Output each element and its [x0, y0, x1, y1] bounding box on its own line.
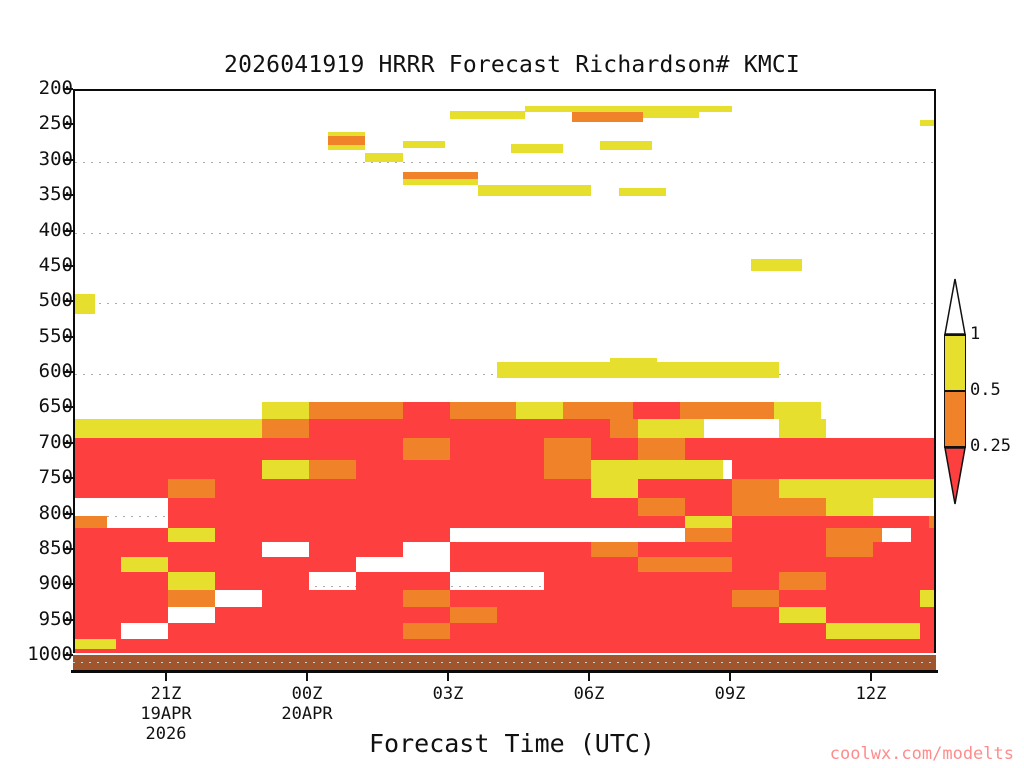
heatmap-cell	[774, 402, 821, 418]
gridline	[75, 233, 934, 234]
y-tick-label: 650	[11, 397, 73, 416]
heatmap-cell	[732, 557, 873, 573]
heatmap-cell	[779, 479, 920, 498]
heatmap-cell	[75, 557, 121, 573]
heatmap-cell	[356, 419, 610, 438]
heatmap-cell	[779, 572, 826, 590]
heatmap-cell	[600, 141, 652, 149]
heatmap-cell	[403, 172, 478, 179]
heatmap-cell	[826, 542, 873, 556]
heatmap-cell	[657, 362, 779, 378]
heatmap-cell	[356, 438, 403, 461]
colorbar-label: 0.25	[970, 436, 1011, 456]
heatmap-cell	[638, 542, 826, 556]
x-tick-mark	[870, 673, 872, 681]
heatmap-cell	[638, 419, 704, 438]
heatmap-cell	[478, 185, 591, 196]
heatmap-cell	[309, 402, 356, 418]
y-tick-label: 400	[11, 221, 73, 240]
heatmap-cell	[685, 438, 732, 461]
heatmap-cell	[591, 542, 638, 556]
colorbar-band-yellow	[944, 334, 966, 390]
y-tick-label: 800	[11, 504, 73, 523]
heatmap-cell	[403, 179, 478, 185]
heatmap-cell	[121, 557, 168, 573]
heatmap-cell	[403, 623, 450, 639]
heatmap-cell	[610, 419, 638, 438]
heatmap-cell	[544, 460, 591, 478]
heatmap-cell	[591, 623, 826, 639]
heatmap-cell	[633, 402, 680, 418]
heatmap-cell	[605, 402, 633, 418]
heatmap-cell	[328, 145, 366, 150]
heatmap-cell	[356, 572, 450, 590]
heatmap-cell	[168, 498, 215, 516]
heatmap-cell	[328, 132, 366, 136]
heatmap-cell	[75, 528, 168, 542]
heatmap-cell	[75, 460, 262, 478]
heatmap-cell	[732, 516, 929, 529]
x-tick-mark	[588, 673, 590, 681]
heatmap-cell	[309, 516, 685, 529]
heatmap-cell	[403, 590, 450, 608]
heatmap-cell	[638, 479, 732, 498]
heatmap-cell	[215, 607, 450, 623]
heatmap-cell	[638, 498, 685, 516]
y-tick-label: 1000	[11, 645, 73, 664]
heatmap-cell	[920, 120, 934, 126]
heatmap-cell	[75, 438, 262, 461]
heatmap-cell	[779, 590, 920, 608]
heatmap-cell	[75, 542, 262, 556]
page-title: 2026041919 HRRR Forecast Richardson# KMC…	[0, 52, 1024, 78]
heatmap-cell	[75, 607, 168, 623]
heatmap-cell	[544, 590, 732, 608]
heatmap-cell	[873, 557, 934, 573]
y-tick-label: 600	[11, 362, 73, 381]
heatmap-cell	[309, 419, 356, 438]
heatmap-cell	[643, 112, 699, 118]
y-tick-label: 550	[11, 327, 73, 346]
heatmap-cell	[826, 623, 920, 639]
heatmap-cell	[262, 402, 309, 418]
heatmap-cell	[873, 542, 934, 556]
colorbar-cap-top	[944, 278, 966, 334]
heatmap-cell	[732, 498, 779, 516]
heatmap-cell	[920, 590, 934, 608]
heatmap-cell	[75, 639, 116, 648]
heatmap-cell	[215, 498, 638, 516]
y-tick-label: 450	[11, 256, 73, 275]
heatmap-cell	[75, 572, 168, 590]
y-tick-label: 950	[11, 610, 73, 629]
heatmap-cell	[356, 460, 544, 478]
heatmap-cell	[638, 557, 732, 573]
heatmap-cell	[450, 590, 544, 608]
colorbar-tick	[944, 390, 966, 392]
y-tick-label: 900	[11, 574, 73, 593]
x-tick-label: 00Z20APR	[281, 684, 332, 724]
y-tick-label: 500	[11, 291, 73, 310]
heatmap-cell	[403, 438, 450, 461]
heatmap-cell	[356, 402, 403, 418]
heatmap-cell	[779, 498, 826, 516]
y-tick-label: 200	[11, 79, 73, 98]
colorbar-tick	[944, 334, 966, 336]
heatmap-cell	[929, 516, 934, 529]
heatmap-cell	[638, 572, 779, 590]
heatmap-cell	[168, 479, 215, 498]
heatmap-cell	[262, 438, 309, 461]
colorbar-legend: 10.50.25	[944, 306, 966, 468]
heatmap-cell	[826, 528, 882, 542]
heatmap-cell	[309, 460, 356, 478]
chart-page: 2026041919 HRRR Forecast Richardson# KMC…	[0, 0, 1024, 768]
heatmap-cell	[450, 542, 544, 556]
heatmap-cell	[328, 136, 366, 144]
gridline-1000	[73, 662, 932, 663]
heatmap-cell	[591, 479, 638, 498]
heatmap-cell	[450, 111, 525, 119]
heatmap-cell	[215, 479, 591, 498]
heatmap-cell	[450, 607, 497, 623]
heatmap-cell	[732, 590, 779, 608]
x-tick-label: 12Z	[856, 684, 887, 704]
heatmap-cell	[309, 438, 356, 461]
heatmap-cell	[262, 590, 403, 608]
x-tick-mark	[447, 673, 449, 681]
heatmap-cell	[544, 572, 638, 590]
heatmap-cell	[685, 516, 732, 529]
heatmap-cell	[168, 590, 215, 608]
heatmap-cell	[732, 528, 826, 542]
heatmap-cell	[920, 623, 934, 639]
heatmap-cell	[215, 528, 450, 542]
heatmap-cell	[116, 639, 934, 648]
heatmap-cell	[591, 460, 676, 478]
heatmap-cell	[168, 572, 215, 590]
heatmap-cell	[168, 516, 215, 529]
heatmap-cell	[215, 516, 309, 529]
y-tick-label: 750	[11, 468, 73, 487]
heatmap-cell	[544, 557, 638, 573]
heatmap-cell	[732, 479, 779, 498]
heatmap-cell	[403, 402, 450, 418]
heatmap-cell	[826, 498, 873, 516]
colorbar-label: 1	[970, 324, 980, 344]
x-tick-mark	[729, 673, 731, 681]
heatmap-cell	[511, 144, 563, 152]
heatmap-cell	[262, 460, 309, 478]
y-tick-label: 300	[11, 150, 73, 169]
heatmap-cell	[544, 438, 591, 461]
y-tick-label: 700	[11, 433, 73, 452]
heatmap-cell	[403, 141, 445, 148]
x-tick-mark	[306, 673, 308, 681]
heatmap-cell	[572, 112, 643, 122]
colorbar-band-orange	[944, 390, 966, 446]
heatmap-cell	[779, 419, 826, 438]
heatmap-cell	[732, 438, 934, 461]
heatmap-cell	[676, 460, 723, 478]
heatmap-cell	[497, 607, 591, 623]
y-tick-label: 250	[11, 114, 73, 133]
heatmap-cell	[215, 572, 309, 590]
heatmap-cell	[365, 153, 403, 161]
heatmap-canvas	[75, 91, 934, 657]
heatmap-cell	[563, 402, 605, 418]
heatmap-cell	[168, 528, 215, 542]
watermark: coolwx.com/modelts	[830, 744, 1014, 764]
heatmap-cell	[309, 542, 403, 556]
plot-frame-bottom	[71, 670, 938, 673]
y-tick-label: 850	[11, 539, 73, 558]
heatmap-cell	[75, 479, 168, 498]
x-tick-label: 09Z	[715, 684, 746, 704]
heatmap-cell	[450, 402, 516, 418]
heatmap-cell	[732, 460, 934, 478]
y-tick-label: 350	[11, 185, 73, 204]
colorbar-label: 0.5	[970, 380, 1001, 400]
x-tick-label: 03Z	[433, 684, 464, 704]
heatmap-cell	[826, 572, 934, 590]
heatmap-cell	[450, 623, 591, 639]
heatmap-cell	[262, 419, 309, 438]
heatmap-cell	[610, 438, 638, 461]
plot-area	[73, 89, 936, 659]
heatmap-cell	[779, 607, 826, 623]
gridline	[75, 303, 934, 304]
heatmap-cell	[75, 516, 107, 529]
heatmap-cell	[168, 623, 403, 639]
heatmap-cell	[168, 557, 356, 573]
x-tick-label: 06Z	[574, 684, 605, 704]
heatmap-cell	[685, 528, 732, 542]
x-tick-mark	[165, 673, 167, 681]
heatmap-cell	[516, 402, 563, 418]
heatmap-cell	[75, 590, 168, 608]
heatmap-cell	[911, 528, 934, 542]
heatmap-cell	[450, 557, 544, 573]
heatmap-cell	[920, 479, 934, 498]
colorbar-cap-bottom	[944, 446, 966, 506]
y-axis: 2002503003504004505005506006507007508008…	[0, 0, 73, 768]
heatmap-cell	[680, 402, 774, 418]
heatmap-cell	[75, 419, 262, 438]
heatmap-cell	[619, 188, 666, 196]
heatmap-cell	[751, 259, 803, 272]
heatmap-cell	[75, 294, 95, 314]
heatmap-cell	[638, 438, 685, 461]
heatmap-cell	[610, 358, 657, 378]
heatmap-cell	[826, 607, 934, 623]
heatmap-cell	[591, 607, 779, 623]
heatmap-cell	[544, 542, 591, 556]
heatmap-cell	[450, 438, 544, 461]
heatmap-cell	[497, 362, 610, 378]
heatmap-cell	[75, 623, 121, 639]
gridline	[75, 162, 934, 163]
